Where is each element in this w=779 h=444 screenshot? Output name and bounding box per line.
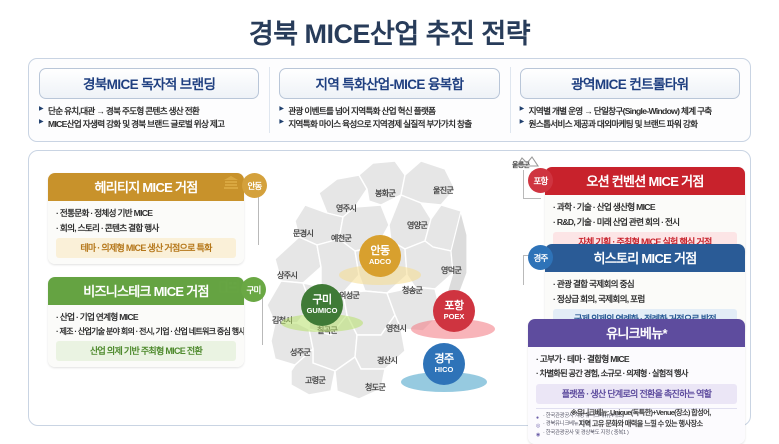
card-highlight: 플랫폼 · 생산 단계로의 전환을 촉진하는 역할 (536, 384, 737, 404)
map-city-label: 고령군 (305, 375, 325, 386)
page-title: 경북 MICE산업 추진 전략 (0, 12, 779, 51)
unique-venue-note: ◉한국관광공사 및 경상북도 지정 ( 중복1 ) (536, 429, 737, 438)
region-badge-andong[interactable]: 안동 (242, 173, 267, 198)
card-bullet: 정상급 회의, 국제회의, 포럼 (553, 292, 737, 307)
card-title: 오션 컨벤션 MICE 거점 (545, 167, 745, 195)
strategy-card-controltower: 광역MICE 컨트롤타워 지역별 개별 운영 → 단일창구(Single-Win… (510, 59, 750, 141)
strategy-heading: 광역MICE 컨트롤타워 (520, 68, 740, 99)
strategy-bullet: 관광 이벤트를 넘어 지역특화 산업 혁신 플랫폼 (279, 105, 499, 118)
region-badge-gyeongju[interactable]: 경주 (528, 245, 553, 270)
hub-label-en: POEX (444, 313, 465, 321)
card-body: 전통문화 · 정체성 기반 MICE 회의, 스토리 · 콘텐츠 결합 행사 테… (48, 201, 244, 264)
card-bullet: R&D, 기술 · 미래 산업 관련 회의 · 전시 (553, 215, 737, 230)
card-title: 유니크베뉴* (528, 319, 745, 347)
gyeongbuk-map: 봉화군 울진군 영주시 문경시 예천군 영양군 상주시 의성군 청송군 영덕군 … (255, 155, 535, 427)
strategy-bullet: 단순 유치,대관 → 경북 주도형 콘텐츠 생산 전환 (39, 105, 259, 118)
map-city-label: 상주시 (277, 270, 297, 281)
map-city-label: 영양군 (407, 220, 427, 231)
hub-label-en: ADCO (369, 258, 391, 266)
strategy-heading: 경북MICE 독자적 브랜딩 (39, 68, 259, 99)
card-highlight: 테마 · 의제형 MICE 생산 거점으로 특화 (56, 238, 236, 258)
region-badge-gumi[interactable]: 구미 (241, 277, 266, 302)
map-city-label: 울진군 (433, 185, 453, 196)
card-title: 비즈니스테크 MICE 거점 (48, 277, 244, 305)
map-city-label: 청송군 (402, 285, 422, 296)
strategy-heading: 지역 특화산업-MICE 융복합 (279, 68, 499, 99)
map-city-label: 영덕군 (441, 265, 461, 276)
map-city-label: 영주시 (336, 203, 356, 214)
region-badge-pohang[interactable]: 포항 (528, 168, 553, 193)
card-title: 헤리티지 MICE 거점 (48, 173, 244, 201)
map-city-label: 봉화군 (375, 188, 395, 199)
card-heritage[interactable]: 헤리티지 MICE 거점 전통문화 · 정체성 기반 MICE 회의, 스토리 … (48, 173, 244, 264)
card-bullet: 제조 · 산업기술 분야 회의 · 전시, 기업 · 산업 네트워크 중심 행사 (56, 325, 236, 339)
note-text: 한국관광공사 및 경상북도 지정 ( 중복1 ) (546, 430, 629, 436)
hub-label-en: HICO (435, 366, 454, 374)
map-city-label: 영천시 (386, 323, 406, 334)
map-city-label: 경산시 (377, 355, 397, 366)
card-title: 히스토리 MICE 거점 (545, 244, 745, 272)
strategy-bullet: MICE산업 자생력 강화 및 경북 브랜드 글로벌 위상 제고 (39, 118, 259, 131)
card-bullet: 회의, 스토리 · 콘텐츠 결합 행사 (56, 221, 236, 236)
strategy-bullet: 지역특화 마이스 육성으로 지역경제 실질적 부가가치 창출 (279, 118, 499, 131)
card-bullet: 산업 · 기업 연계형 MICE (56, 310, 236, 325)
strategy-card-convergence: 지역 특화산업-MICE 융복합 관광 이벤트를 넘어 지역특화 산업 혁신 플… (269, 59, 509, 141)
footnote-line-1: ※유니크베뉴: Unique(독특한)+Venue(장소) 합성어, (528, 408, 753, 419)
card-businesstech[interactable]: 비즈니스테크 MICE 거점 산업 · 기업 연계형 MICE 제조 · 산업기… (48, 277, 244, 367)
card-bullet: 고부가 · 테마 · 결합형 MICE (536, 352, 737, 367)
card-bullet: 관광 결합 국제회의 중심 (553, 277, 737, 292)
map-city-label: 성주군 (290, 347, 310, 358)
unique-venue-footnote: ※유니크베뉴: Unique(독특한)+Venue(장소) 합성어, 지역 고유… (528, 408, 753, 430)
map-hub-pohang[interactable]: 포항 POEX (433, 290, 475, 332)
card-bullet: 전통문화 · 정체성 기반 MICE (56, 206, 236, 221)
card-bullet: 과학 · 기술 · 산업 생산형 MICE (553, 200, 737, 215)
strategy-bullet: 원스톱서비스 제공과 대외마케팅 및 브랜드 파워 강화 (520, 118, 740, 131)
strategy-strip: 경북MICE 독자적 브랜딩 단순 유치,대관 → 경북 주도형 콘텐츠 생산 … (28, 58, 751, 142)
strategy-bullet: 지역별 개별 운영 → 단일창구(Single-Window) 체계 구축 (520, 105, 740, 118)
hub-label-en: GUMICO (307, 307, 338, 315)
footnote-line-2: 지역 고유 문화와 매력을 느낄 수 있는 행사장소 (528, 419, 753, 430)
bullet-dot-icon: ◉ (536, 431, 540, 439)
card-highlight: 산업 의제 기반 주최형 MICE 전환 (56, 341, 236, 361)
map-city-label: 청도군 (365, 382, 385, 393)
strategy-card-branding: 경북MICE 독자적 브랜딩 단순 유치,대관 → 경북 주도형 콘텐츠 생산 … (29, 59, 269, 141)
strategy-bullet-list: 관광 이벤트를 넘어 지역특화 산업 혁신 플랫폼 지역특화 마이스 육성으로 … (279, 105, 499, 132)
map-hub-andong[interactable]: 안동 ADCO (359, 235, 401, 277)
card-bullet: 차별화된 공간 경험, 소규모 · 의제형 · 실험적 행사 (536, 367, 737, 381)
strategy-bullet-list: 단순 유치,대관 → 경북 주도형 콘텐츠 생산 전환 MICE산업 자생력 강… (39, 105, 259, 132)
card-body: 산업 · 기업 연계형 MICE 제조 · 산업기술 분야 회의 · 전시, 기… (48, 305, 244, 367)
map-hub-gyeongju[interactable]: 경주 HICO (423, 343, 465, 385)
map-city-label: 예천군 (331, 233, 351, 244)
factory-tech-icon (219, 278, 239, 293)
heritage-building-icon (222, 175, 240, 190)
map-hub-gumi[interactable]: 구미 GUMICO (301, 284, 343, 326)
map-city-label: 문경시 (293, 228, 313, 239)
strategy-bullet-list: 지역별 개별 운영 → 단일창구(Single-Window) 체계 구축 원스… (520, 105, 740, 132)
